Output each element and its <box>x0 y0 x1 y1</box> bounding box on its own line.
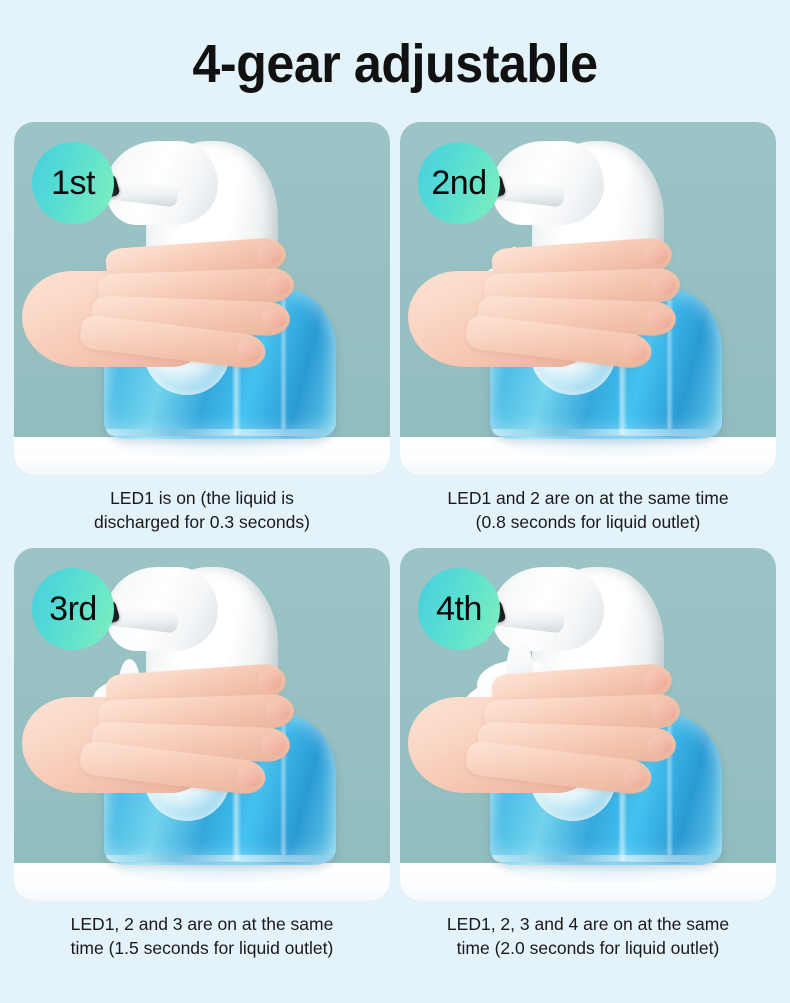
soap-dispenser-3 <box>84 559 354 879</box>
fingernail-4-1 <box>643 671 668 692</box>
reservoir-reflection-2 <box>504 435 708 457</box>
gear-scene-2: 2nd <box>400 122 776 475</box>
reservoir-reflection-1 <box>118 435 322 457</box>
hand-4 <box>408 663 738 795</box>
fingernail-4-2 <box>652 701 677 721</box>
gear-caption-1: LED1 is on (the liquid is discharged for… <box>14 486 390 534</box>
gear-badge-3: 3rd <box>32 568 114 650</box>
gear-card-2: 2nd <box>400 122 776 534</box>
gear-caption-2: LED1 and 2 are on at the same time (0.8 … <box>400 486 776 534</box>
fingernail-1-2 <box>266 275 291 295</box>
fingernail-2-4 <box>622 340 648 362</box>
gear-caption-3: LED1, 2 and 3 are on at the same time (1… <box>14 912 390 960</box>
soap-dispenser-1 <box>84 133 354 453</box>
gear-scene-4: 4th <box>400 548 776 901</box>
fingernail-4-4 <box>622 767 648 789</box>
gear-badge-4: 4th <box>418 568 500 650</box>
hand-1 <box>22 237 352 369</box>
fingernail-4-3 <box>648 735 673 755</box>
soap-dispenser-4 <box>470 559 740 879</box>
gear-badge-label-1: 1st <box>51 166 95 200</box>
hand-3 <box>22 663 352 795</box>
product-infographic-page: 4-gear adjustable 1st <box>0 0 790 1003</box>
gear-badge-2: 2nd <box>418 142 500 224</box>
fingernail-1-4 <box>236 340 262 362</box>
fingernail-2-2 <box>652 275 677 295</box>
fingernail-1-3 <box>262 309 287 329</box>
gear-card-4: 4th <box>400 548 776 960</box>
gear-badge-label-4: 4th <box>436 592 482 626</box>
soap-dispenser-2 <box>470 133 740 453</box>
fingernail-3-2 <box>266 701 291 721</box>
fingernail-1-1 <box>257 244 282 265</box>
fingernail-3-4 <box>236 767 262 789</box>
fingernail-2-1 <box>643 244 668 265</box>
fingernail-3-1 <box>257 671 282 692</box>
gear-caption-4: LED1, 2, 3 and 4 are on at the same time… <box>400 912 776 960</box>
fingernail-3-3 <box>262 735 287 755</box>
gear-scene-1: 1st <box>14 122 390 475</box>
gear-card-3: 3rd <box>14 548 390 960</box>
gear-badge-label-2: 2nd <box>431 166 486 200</box>
hand-2 <box>408 237 738 369</box>
gear-panel-grid: 1st <box>14 122 776 961</box>
gear-card-1: 1st <box>14 122 390 534</box>
fingernail-2-3 <box>648 309 673 329</box>
gear-badge-1: 1st <box>32 142 114 224</box>
gear-scene-3: 3rd <box>14 548 390 901</box>
gear-badge-label-3: 3rd <box>49 592 97 626</box>
page-title: 4-gear adjustable <box>28 36 763 93</box>
